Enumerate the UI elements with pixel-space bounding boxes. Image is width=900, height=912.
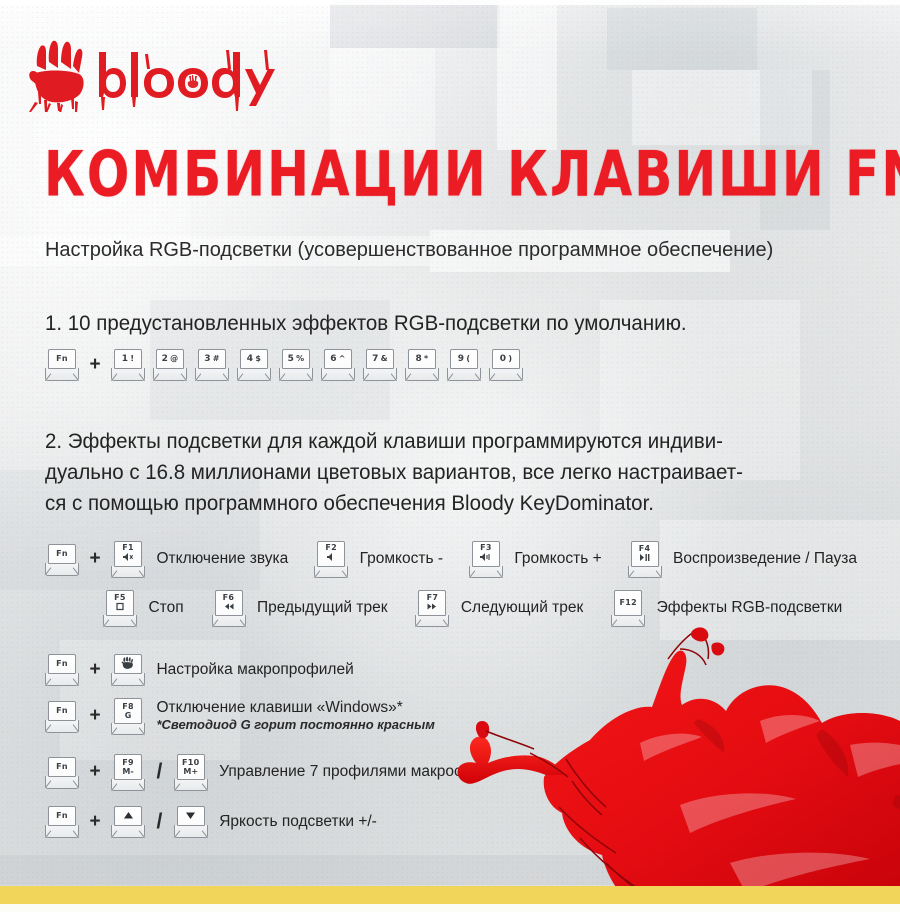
key-fn-label: Fn (56, 660, 68, 668)
play-pause-icon (639, 553, 651, 564)
key-fn-label: Fn (56, 550, 68, 558)
bloody-hand-icon (29, 41, 84, 112)
key-number-secondary: % (296, 355, 304, 363)
red-paint-splatter (430, 625, 900, 912)
bg-block (0, 855, 900, 885)
fn-row-brightness: Fn + / Яркость подсветки +/- (45, 805, 377, 838)
volume-down-icon (325, 552, 337, 564)
key-number-primary: 2 (162, 355, 169, 364)
fn-f4-description: Воспроизведение / Пауза (673, 550, 857, 568)
key-number-1[interactable]: 1! (111, 348, 145, 381)
mute-icon (122, 552, 134, 564)
bloody-hand-key-icon (121, 656, 135, 672)
fn-row-macro-profile: Fn + (45, 653, 354, 686)
poster-canvas: КОМБИНАЦИИ КЛАВИШИ FN Настройка RGB-подс… (0, 0, 900, 912)
key-number-6[interactable]: 6^ (321, 348, 355, 381)
fn-f3-description: Громкость + (514, 550, 601, 568)
fn-f5-description: Стоп (148, 599, 183, 617)
key-number-secondary: $ (255, 355, 261, 363)
fn-row-media-2: F5 Стоп F6 Предыдущий трек F7 (103, 589, 842, 627)
bg-block (632, 70, 812, 145)
key-number-secondary: ) (508, 355, 512, 363)
section-1-text: 1. 10 предустановленных эффектов RGB-под… (45, 308, 687, 339)
key-fn-label: Fn (56, 812, 68, 820)
key-f10-label: F10 (182, 759, 200, 767)
key-f2-label: F2 (325, 544, 337, 552)
key-bloody-hand[interactable] (111, 653, 145, 686)
key-f6-label: F6 (223, 594, 235, 602)
key-f8[interactable]: F8 G (111, 697, 145, 735)
key-number-4[interactable]: 4$ (237, 348, 271, 381)
section-2-line-3: ся с помощью программного обеспечения Bl… (45, 488, 743, 519)
key-f5-label: F5 (114, 594, 126, 602)
fn-brightness-description: Яркость подсветки +/- (219, 813, 377, 831)
slash-separator: / (156, 810, 162, 834)
fn-f12-description: Эффекты RGB-подсветки (657, 599, 843, 617)
key-fn-label: Fn (56, 355, 68, 363)
key-f12[interactable]: F12 (611, 589, 645, 627)
slash-separator: / (156, 760, 162, 784)
fn-f1-description: Отключение звука (156, 550, 288, 568)
key-f9[interactable]: F9 M- (111, 753, 145, 791)
plus-sign: + (89, 705, 100, 727)
section-2-line-1: 2. Эффекты подсветки для каждой клавиши … (45, 426, 743, 457)
key-f2[interactable]: F2 (314, 540, 348, 578)
arrow-up-icon (122, 810, 135, 823)
plus-sign: + (89, 761, 100, 783)
previous-track-icon (223, 602, 235, 613)
key-f3-label: F3 (480, 544, 492, 552)
key-f5[interactable]: F5 (103, 589, 137, 627)
key-number-primary: 8 (415, 355, 422, 364)
key-number-2[interactable]: 2@ (153, 348, 187, 381)
key-arrow-down[interactable] (174, 805, 208, 838)
arrow-down-icon (184, 810, 197, 823)
fn-f2-description: Громкость - (360, 550, 443, 568)
section-2-text: 2. Эффекты подсветки для каждой клавиши … (45, 426, 743, 519)
key-f1-label: F1 (122, 544, 134, 552)
bloody-wordmark (99, 50, 275, 111)
key-f10[interactable]: F10 M+ (174, 753, 208, 791)
key-f8-sublabel: G (125, 712, 132, 720)
key-fn[interactable]: Fn (45, 348, 79, 381)
key-number-secondary: & (381, 355, 388, 363)
bloody-logo (27, 40, 277, 112)
key-f6[interactable]: F6 (212, 589, 246, 627)
fn-windows-lock-note: *Светодиод G горит постоянно красным (156, 717, 434, 733)
fn-windows-lock-description: Отключение клавиши «Windows»* (156, 699, 434, 717)
key-fn[interactable]: Fn (45, 700, 79, 733)
key-f4[interactable]: F4 (628, 540, 662, 578)
bg-block (330, 0, 500, 48)
stop-icon (115, 602, 125, 613)
bg-block (497, 0, 557, 150)
fn-windows-lock-text: Отключение клавиши «Windows»* *Светодиод… (156, 699, 434, 733)
top-edge (0, 0, 900, 5)
fn-macro-switch-description: Управление 7 профилями макросов (219, 763, 479, 781)
key-number-primary: 1 (122, 355, 129, 364)
next-track-icon (426, 602, 438, 613)
key-fn[interactable]: Fn (45, 756, 79, 789)
key-f10-sublabel: M+ (183, 768, 198, 776)
key-f8-label: F8 (122, 703, 134, 711)
key-number-primary: 3 (204, 355, 211, 364)
bg-block (607, 8, 757, 70)
key-number-secondary: # (213, 355, 220, 363)
key-f7[interactable]: F7 (415, 589, 449, 627)
key-number-secondary: ^ (339, 355, 346, 363)
fn-f6-description: Предыдущий трек (257, 599, 388, 617)
fn-row-macro-switch: Fn + F9 M- / F10 M+ Управление 7 профиля… (45, 753, 479, 791)
fn-row-windows-lock: Fn + F8 G Отключение клавиши «Windows»* … (45, 697, 435, 735)
section-2-line-2: дуально с 16.8 миллионами цветовых вариа… (45, 457, 743, 488)
plus-sign: + (89, 811, 100, 833)
key-fn[interactable]: Fn (45, 805, 79, 838)
key-f12-label: F12 (619, 599, 637, 607)
key-f3[interactable]: F3 (469, 540, 503, 578)
key-f4-label: F4 (639, 545, 651, 553)
key-number-secondary: ! (130, 355, 134, 363)
key-number-9[interactable]: 9( (447, 348, 481, 381)
number-key-row: Fn + 1!2@3#4$5%6^7&8*9(0) (45, 348, 523, 381)
key-fn-label: Fn (56, 707, 68, 715)
plus-sign: + (89, 354, 100, 376)
page-subtitle: Настройка RGB-подсветки (усовершенствова… (45, 238, 773, 262)
plus-sign: + (89, 548, 100, 570)
key-f9-label: F9 (122, 759, 134, 767)
key-number-primary: 4 (247, 355, 254, 364)
gold-bottom-bar (0, 886, 900, 904)
key-number-3[interactable]: 3# (195, 348, 229, 381)
key-number-primary: 7 (372, 355, 379, 364)
key-f7-label: F7 (427, 594, 439, 602)
fn-macro-profile-description: Настройка макропрофилей (156, 661, 353, 679)
key-number-primary: 0 (500, 355, 507, 364)
key-fn[interactable]: Fn (45, 543, 79, 576)
key-number-primary: 6 (330, 355, 337, 364)
key-f1[interactable]: F1 (111, 540, 145, 578)
fn-f7-description: Следующий трек (461, 599, 583, 617)
key-number-primary: 9 (458, 355, 465, 364)
volume-up-icon (479, 552, 492, 564)
key-number-secondary: * (424, 355, 428, 363)
fn-row-media-1: Fn + F1 Отключение звука F2 Громкость - (45, 540, 857, 578)
key-f9-sublabel: M- (122, 768, 133, 776)
key-number-secondary: ( (466, 355, 470, 363)
key-number-primary: 5 (288, 355, 295, 364)
plus-sign: + (89, 659, 100, 681)
page-title: КОМБИНАЦИИ КЛАВИШИ FN (44, 143, 900, 206)
key-number-7[interactable]: 7& (363, 348, 397, 381)
key-fn[interactable]: Fn (45, 653, 79, 686)
key-number-secondary: @ (170, 355, 178, 363)
key-fn-label: Fn (56, 763, 68, 771)
key-arrow-up[interactable] (111, 805, 145, 838)
bottom-edge (0, 904, 900, 912)
key-number-5[interactable]: 5% (279, 348, 313, 381)
key-number-8[interactable]: 8* (405, 348, 439, 381)
key-number-0[interactable]: 0) (489, 348, 523, 381)
